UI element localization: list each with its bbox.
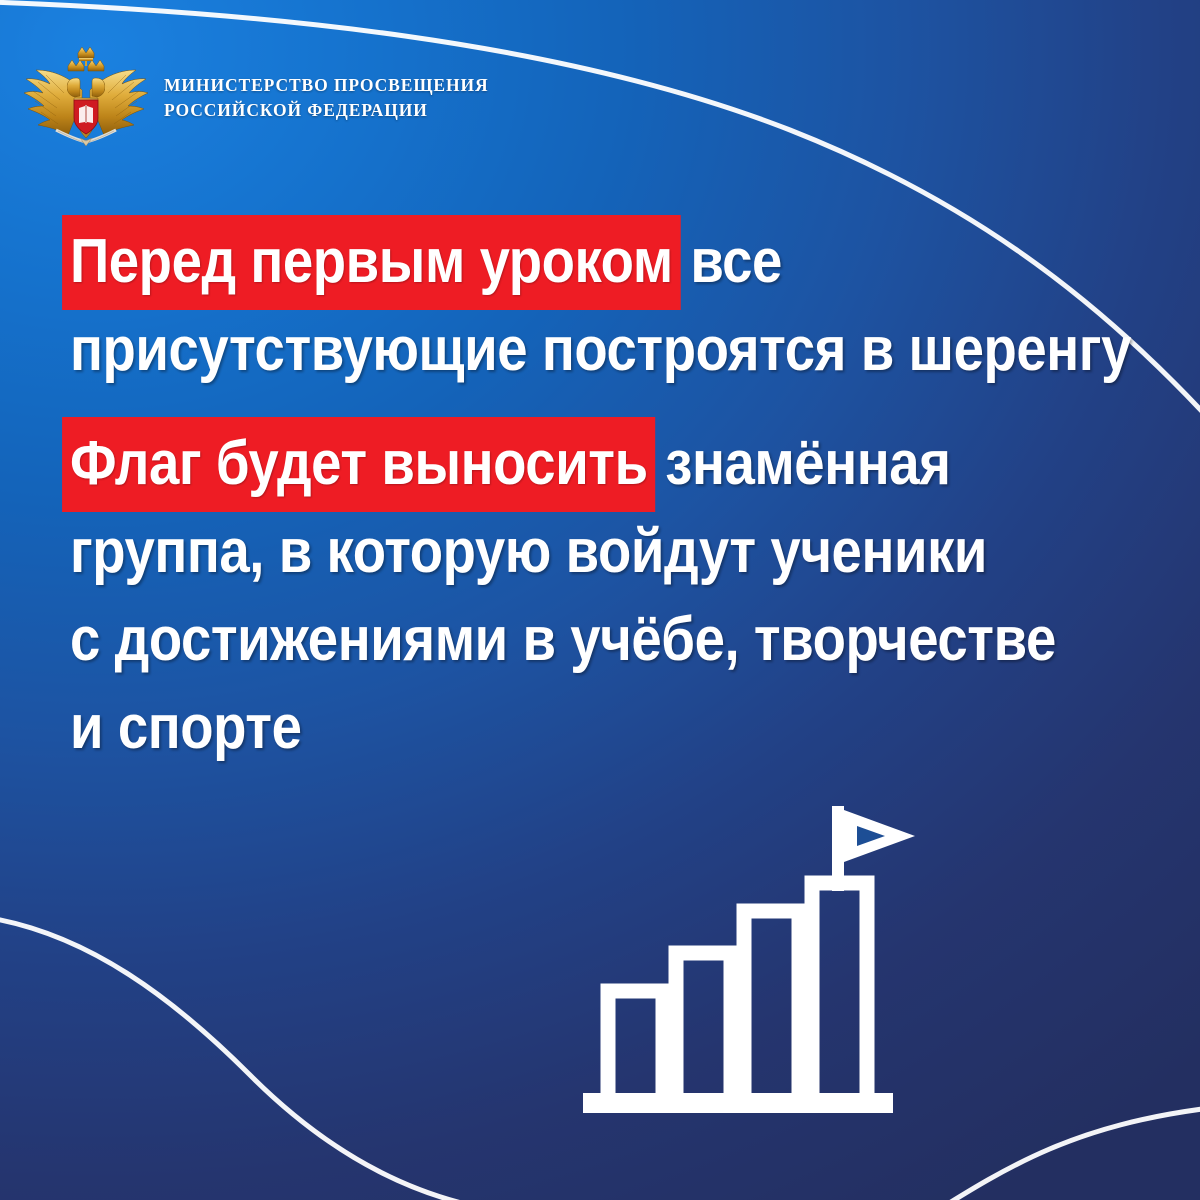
russian-coat-of-arms-emblem [24, 46, 148, 150]
main-copy: Перед первым урокомвсе присутствующие по… [70, 218, 1180, 772]
bottom-right-wave-line [930, 1108, 1200, 1200]
paragraph-one-line-1: Перед первым урокомвсе [70, 218, 1047, 306]
flag-pole [832, 806, 844, 891]
highlight-perform-before-first-lesson: Перед первым уроком [62, 215, 681, 310]
highlight-flag-will-be-carried: Флаг будет выносить [62, 417, 656, 512]
paragraph-two-line-1: Флаг будет выноситьзнамённая [70, 420, 1047, 508]
paragraph-one-line-2: присутствующие построятся в шеренгу [70, 306, 1047, 394]
paragraph-two: Флаг будет выноситьзнамённая группа, в к… [70, 420, 1180, 772]
growth-bar-chart-with-flag-icon [575, 798, 915, 1128]
paragraph-one: Перед первым урокомвсе присутствующие по… [70, 218, 1180, 394]
bar-4 [812, 883, 867, 1098]
paragraph-two-line-3: с достижениями в учёбе, творчестве [70, 596, 1047, 684]
poster-canvas: МИНИСТЕРСТВО ПРОСВЕЩЕНИЯ РОССИЙСКОЙ ФЕДЕ… [0, 0, 1200, 1200]
paragraph-one-line-1-rest: все [681, 227, 782, 296]
paragraph-two-line-2: группа, в которую войдут ученики [70, 508, 1047, 596]
ministry-name-text: МИНИСТЕРСТВО ПРОСВЕЩЕНИЯ РОССИЙСКОЙ ФЕДЕ… [164, 73, 489, 123]
ministry-header: МИНИСТЕРСТВО ПРОСВЕЩЕНИЯ РОССИЙСКОЙ ФЕДЕ… [24, 46, 489, 150]
paragraph-two-line-1-rest: знамённая [656, 429, 951, 498]
bar-1 [608, 991, 663, 1098]
bottom-wave-line [0, 918, 530, 1200]
chart-baseline [583, 1093, 893, 1113]
paragraph-two-line-4: и спорте [70, 684, 1047, 772]
bar-3 [744, 911, 799, 1098]
bar-2 [676, 953, 731, 1098]
